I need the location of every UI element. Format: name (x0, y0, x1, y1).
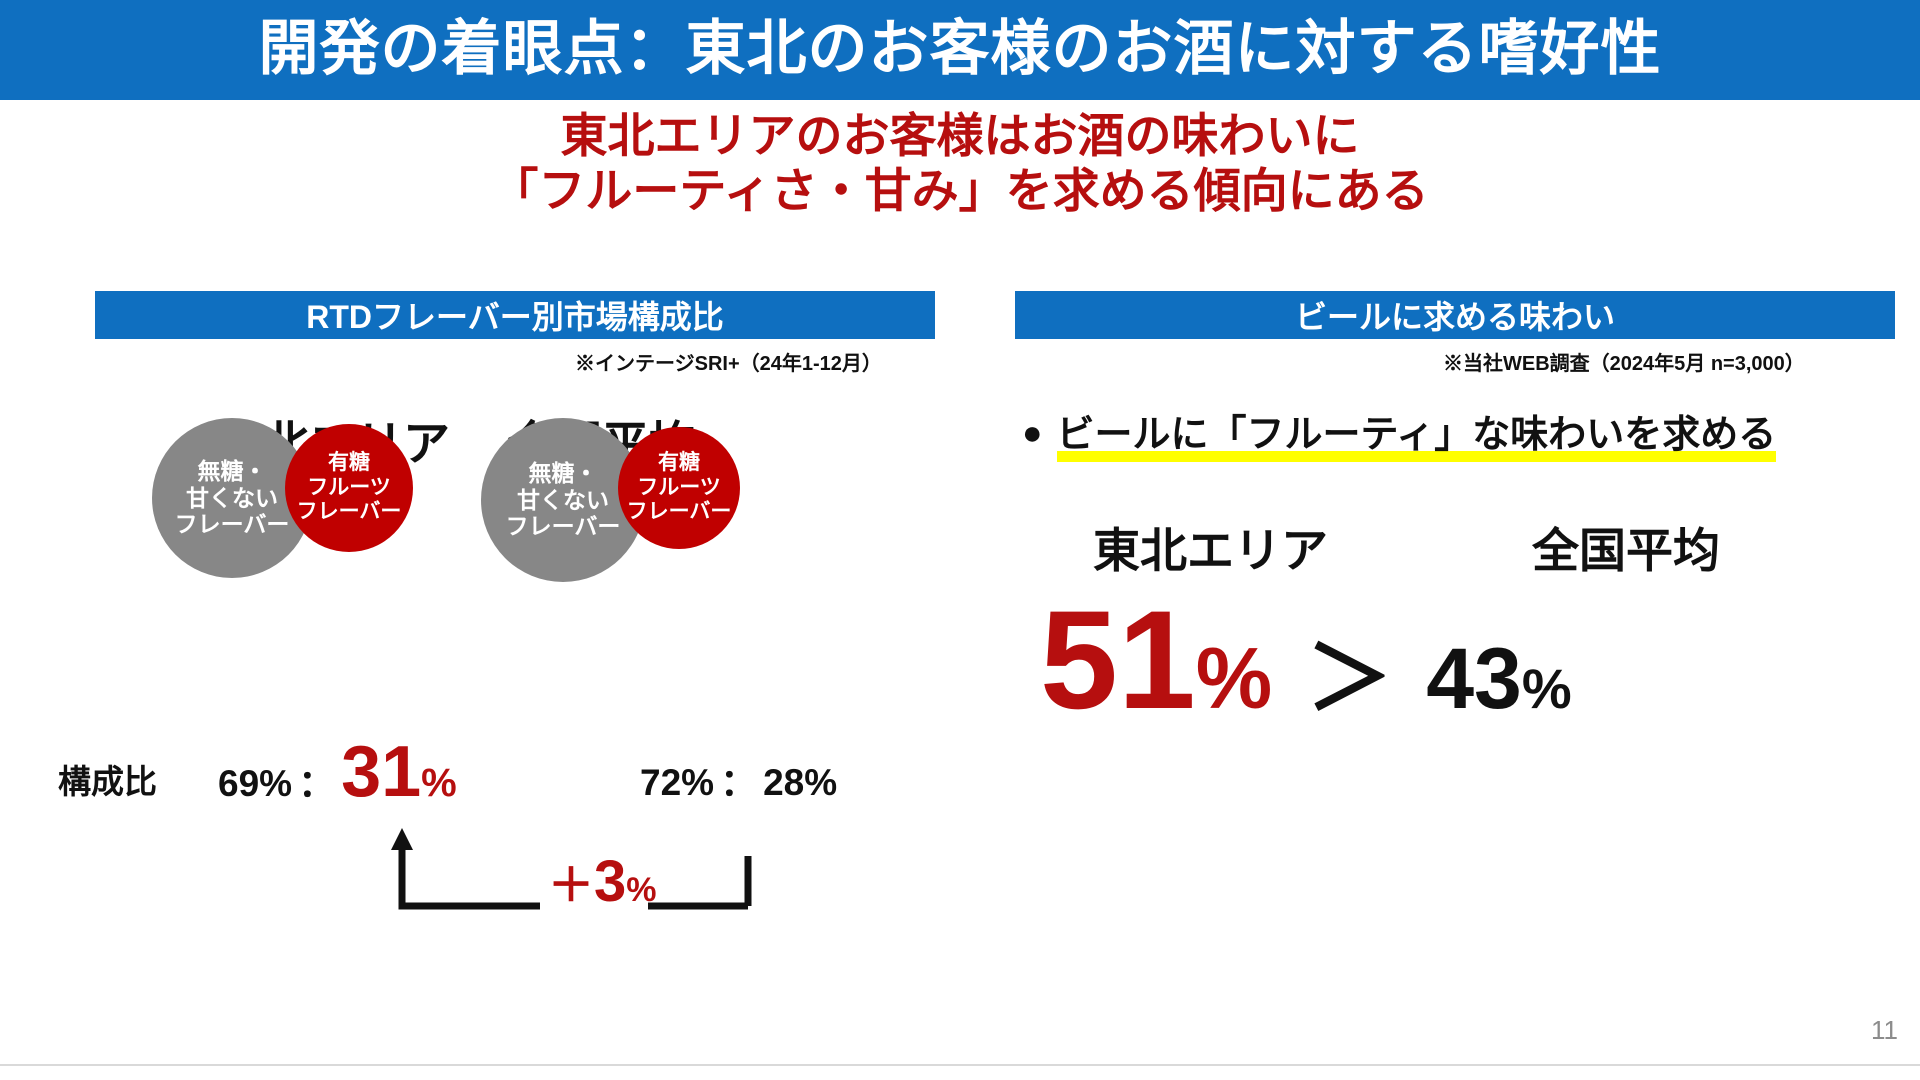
delta-value: ＋3% (548, 848, 657, 915)
slide-title-bar: 開発の着眼点：東北のお客様のお酒に対する嗜好性 (0, 0, 1920, 97)
bullet-dot-icon: ● (1022, 412, 1043, 455)
ratio-separator: ： (714, 762, 763, 803)
ratio-national-left: 72% (640, 762, 714, 803)
comparison-values: 51% ＞ 43% (1040, 590, 1572, 730)
bubble-national-fruit: 有糖 フルーツ フレーバー (618, 427, 740, 549)
footer-divider (0, 1064, 1920, 1066)
ratio-national-right: 28% (763, 762, 837, 803)
bubble-line: 甘くない (517, 487, 609, 514)
ratio-row-label: 構成比 (58, 755, 157, 803)
comparison-value-national-unit: % (1522, 661, 1572, 717)
ratio-tohoku-right: 31 (341, 732, 421, 812)
delta-unit: % (626, 871, 656, 909)
bubble-line: フレーバー (506, 513, 621, 540)
comparison-value-national-number: 43 (1426, 636, 1522, 722)
right-panel-header-label: ビールに求める味わい (1295, 292, 1615, 338)
bubble-line: 無糖・ (198, 458, 267, 485)
left-panel-source-note: ※インテージSRI+（24年1-12月） (575, 347, 882, 376)
slide: 開発の着眼点：東北のお客様のお酒に対する嗜好性 東北エリアのお客様はお酒の味わい… (0, 0, 1920, 1080)
subtitle-line-2: 「フルーティさ・甘み」を求める傾向にある (0, 163, 1920, 218)
ratio-tohoku-right-unit: % (421, 761, 457, 805)
bullet-row: ● ビールに「フルーティ」な味わいを求める (1022, 412, 1776, 462)
comparison-value-tohoku-number: 51 (1040, 590, 1196, 730)
title-divider (0, 97, 1920, 100)
bubble-line: 無糖・ (529, 460, 598, 487)
subtitle-line-1: 東北エリアのお客様はお酒の味わいに (0, 108, 1920, 163)
bubble-line: フレーバー (297, 500, 402, 524)
ratio-separator: ： (292, 763, 341, 804)
ratio-tohoku-left: 69% (218, 763, 292, 804)
bubble-line: フレーバー (627, 500, 732, 524)
left-panel-header: RTDフレーバー別市場構成比 (95, 291, 935, 339)
delta-number: 3 (594, 849, 626, 914)
delta-sign: ＋ (548, 859, 594, 911)
bubble-line: フルーツ (637, 476, 721, 500)
bubble-tohoku-fruit: 有糖 フルーツ フレーバー (285, 424, 413, 552)
comparison-value-tohoku-unit: % (1196, 636, 1272, 722)
bubble-line: 甘くない (186, 485, 278, 512)
right-panel-header: ビールに求める味わい (1015, 291, 1895, 339)
page-title: 開発の着眼点：東北のお客様のお酒に対する嗜好性 (259, 19, 1662, 79)
bubble-line: 有糖 (658, 451, 700, 475)
comparison-value-national: 43% (1426, 636, 1571, 722)
bubble-line: フレーバー (175, 511, 290, 538)
bubble-line: フルーツ (307, 476, 391, 500)
page-number: 11 (1871, 1015, 1898, 1046)
ratio-national: 72%：28% (640, 752, 837, 806)
comparison-label-national: 全国平均 (1532, 512, 1720, 581)
comparison-value-tohoku: 51% (1040, 590, 1272, 730)
bullet-text: ビールに「フルーティ」な味わいを求める (1057, 412, 1777, 462)
slide-subtitle: 東北エリアのお客様はお酒の味わいに 「フルーティさ・甘み」を求める傾向にある (0, 108, 1920, 219)
comparison-label-tohoku: 東北エリア (1093, 512, 1328, 581)
left-panel-header-label: RTDフレーバー別市場構成比 (306, 292, 723, 338)
comparison-operator: ＞ (1306, 636, 1392, 722)
ratio-tohoku: 69%：31% (218, 740, 457, 807)
bubble-line: 有糖 (328, 451, 370, 475)
right-panel-source-note: ※当社WEB調査（2024年5月 n=3,000） (1443, 347, 1805, 376)
